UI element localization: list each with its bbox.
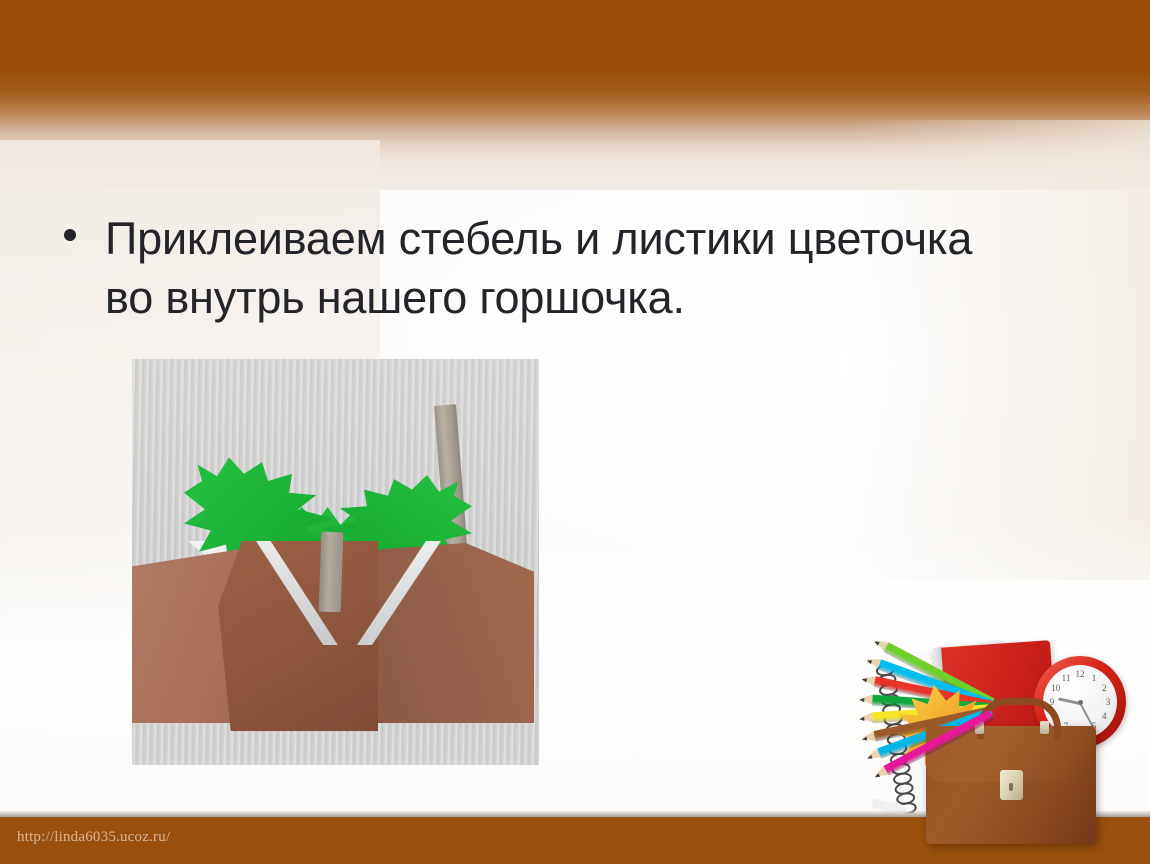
briefcase-stud-right xyxy=(1040,721,1049,734)
slide-body-text: Приклеиваем стебель и листики цветочка в… xyxy=(105,209,1010,328)
clock-numeral: 12 xyxy=(1076,669,1085,679)
clock-numeral: 3 xyxy=(1106,697,1111,707)
source-url[interactable]: http://linda6035.ucoz.ru/ xyxy=(17,829,170,846)
clock-center-pin xyxy=(1078,700,1083,705)
briefcase-keyhole xyxy=(1009,783,1013,791)
clock-numeral: 4 xyxy=(1102,711,1107,721)
briefcase-lock xyxy=(1000,770,1023,800)
leather-briefcase xyxy=(926,726,1096,844)
cardboard-stem-lower xyxy=(319,532,344,613)
bullet-dot-icon xyxy=(64,229,76,241)
clock-numeral: 1 xyxy=(1092,673,1097,683)
clock-numeral: 11 xyxy=(1062,673,1071,683)
pot-panel-middle xyxy=(218,541,378,731)
slide: Приклеиваем стебель и листики цветочка в… xyxy=(0,0,1150,864)
craft-photo xyxy=(132,359,539,765)
clock-numeral: 10 xyxy=(1051,683,1060,693)
clock-numeral: 2 xyxy=(1102,683,1107,693)
clock-hour-hand xyxy=(1058,697,1080,705)
background-right-wash xyxy=(850,120,1150,580)
bullet-list-item: Приклеиваем стебель и листики цветочка в… xyxy=(64,209,1074,328)
